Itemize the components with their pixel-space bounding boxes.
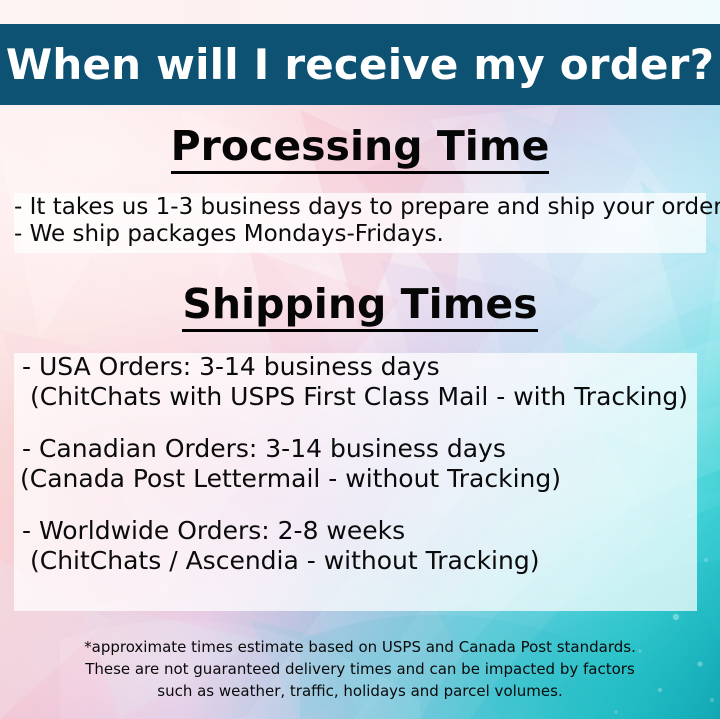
page-title: When will I receive my order? [6,44,714,86]
shipping-entry-canada-title: - Canadian Orders: 3-14 business days [22,434,712,464]
section-heading-shipping-times: Shipping Times [0,284,720,332]
header-banner: When will I receive my order? [0,24,720,105]
section-heading-processing-time-text: Processing Time [171,126,550,174]
processing-line-1: - It takes us 1-3 business days to prepa… [14,194,714,221]
shipping-entry-worldwide-title: - Worldwide Orders: 2-8 weeks [22,516,712,546]
disclaimer-note: *approximate times estimate based on USP… [0,636,720,702]
shipping-entry-worldwide: - Worldwide Orders: 2-8 weeks (ChitChats… [22,516,712,576]
processing-line-2: - We ship packages Mondays-Fridays. [14,221,714,248]
shipping-entry-usa-title: - USA Orders: 3-14 business days [22,352,712,382]
top-strip [0,0,720,24]
shipping-entry-usa: - USA Orders: 3-14 business days (ChitCh… [22,352,712,412]
shipping-entry-canada: - Canadian Orders: 3-14 business days (C… [22,434,712,494]
shipping-entry-canada-detail: (Canada Post Lettermail - without Tracki… [20,464,712,494]
shipping-info-graphic: When will I receive my order? Processing… [0,0,720,719]
section-heading-shipping-times-text: Shipping Times [182,284,537,332]
disclaimer-line-2: These are not guaranteed delivery times … [0,658,720,680]
section-heading-processing-time: Processing Time [0,126,720,174]
disclaimer-line-1: *approximate times estimate based on USP… [0,636,720,658]
processing-time-body: - It takes us 1-3 business days to prepa… [14,194,714,248]
shipping-times-list: - USA Orders: 3-14 business days (ChitCh… [22,352,712,576]
shipping-entry-usa-detail: (ChitChats with USPS First Class Mail - … [30,382,712,412]
disclaimer-line-3: such as weather, traffic, holidays and p… [0,680,720,702]
shipping-entry-worldwide-detail: (ChitChats / Ascendia - without Tracking… [30,546,712,576]
